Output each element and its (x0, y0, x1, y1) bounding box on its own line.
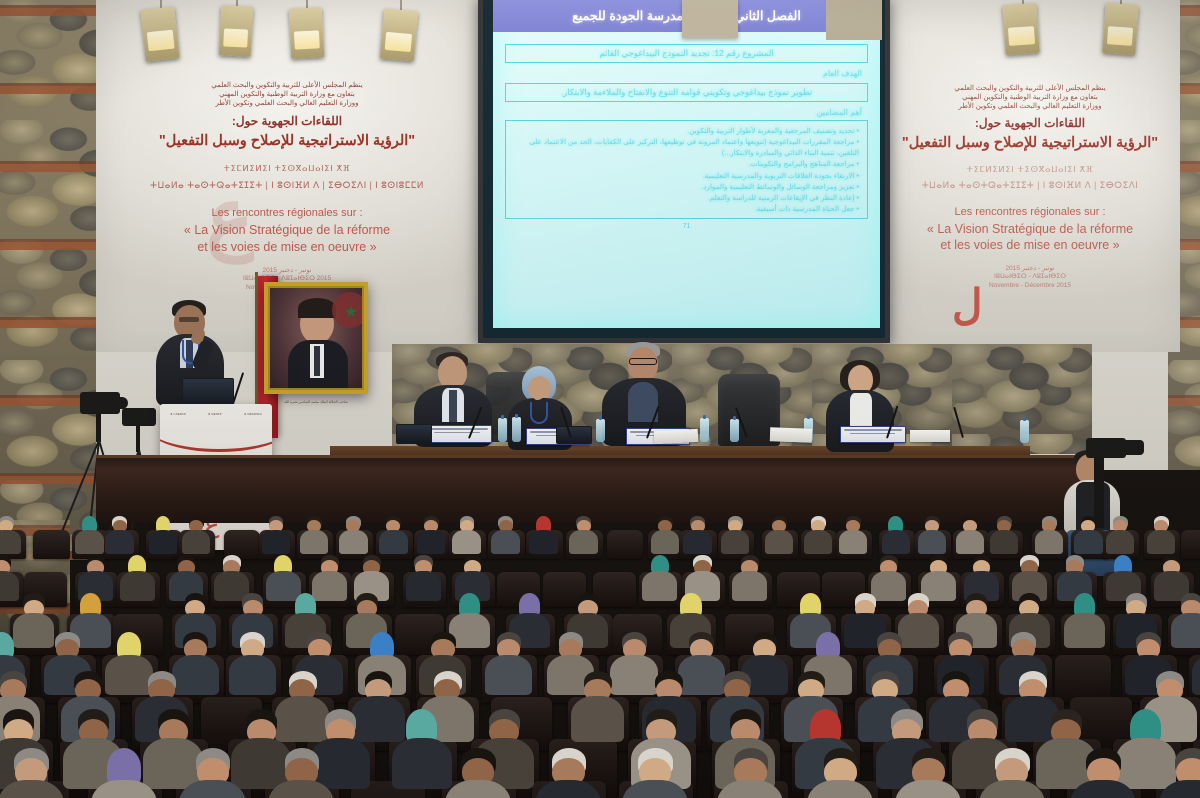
audience-member (78, 555, 113, 596)
banner-right-date-tif: ⵏⵓⵡⴰⵏⴱⵉⵔ - ⴷⵓⵊⴰⵏⴱⵉⵔ (890, 273, 1180, 281)
audience-member (807, 748, 873, 798)
slide-contents-heading: أهم المضامين (505, 108, 868, 117)
audience-torso (651, 530, 680, 554)
stage-lamp (289, 7, 325, 59)
audience-member (1035, 516, 1064, 549)
documents (770, 427, 812, 442)
banner-left-fr-3: et les voies de mise en oeuvre » (104, 240, 470, 256)
audience-member (300, 516, 329, 549)
podium-logos: ★ CSEFRS ★ MENFP ★ MESRSFC (170, 408, 262, 420)
stage-lamp (219, 5, 254, 57)
water-bottle (498, 418, 507, 442)
audience-torso (571, 696, 625, 741)
banner-right-fr-1: Les rencontres régionales sur : (890, 206, 1180, 220)
banner-left-fr-2: « La Vision Stratégique de la réforme (104, 223, 470, 239)
audience-member (339, 516, 368, 549)
water-bottle (700, 418, 709, 442)
audience-torso (569, 530, 598, 554)
slide-content-item: تعزيز ومراجعة الوسائل والوسائط التعليمية… (514, 181, 859, 192)
audience-torso (445, 780, 511, 798)
banner-left-title: "الرؤية الاستراتيجية للإصلاح وسبل التفعي… (104, 132, 470, 150)
portrait-caption: صاحب الجلالة الملك محمد السادس نصره الله (264, 400, 368, 404)
slide-objective-text: تطوير نموذج بيداغوجي وتكويني قوامه التنو… (505, 83, 868, 102)
audience-torso (717, 780, 783, 798)
audience-member (354, 555, 389, 596)
stage-lamp (140, 6, 179, 61)
audience-member (839, 516, 868, 549)
banner-left-tifinagh-1: ⵜⵉⵎⵍⵉⵍⵉⵏ ⵜⵉⵙⴳⴰⵡⴰⵏⵉⵏ ⵅⴼ (104, 163, 470, 174)
slide-content-item: الارتقاء بجودة العلاقات التربوية والمدرس… (514, 170, 859, 181)
audience-member (406, 555, 441, 596)
audience-member (571, 671, 625, 734)
royal-portrait: ★ صاحب الجلالة الملك محمد السادس نصره ال… (264, 282, 368, 394)
audience-member (1057, 555, 1092, 596)
audience-torso (839, 530, 868, 554)
slide-objective-heading: الهدف العام (505, 69, 868, 78)
banner-right-tifinagh-2: ⵜⵡⴰⵍⴰ ⵜⴰⵙⵜⵕⴰⵜⵉⵊⵉⵜ | ⵏ ⵓⵙⵏⴼⵍ ⴷ | ⵉⴱⵔⵉⴷⵏ (890, 180, 1180, 191)
audience-member (921, 555, 956, 596)
audience-member (1106, 555, 1141, 596)
audience-torso (105, 530, 134, 554)
audience-torso (1070, 780, 1136, 798)
audience-member (964, 555, 999, 596)
audience-torso (918, 530, 947, 554)
audience-member (1154, 555, 1189, 596)
stage-lamp (1102, 3, 1138, 55)
audience-member (455, 555, 490, 596)
audience-torso (452, 530, 481, 554)
banner-right-date-fr: Novembre - Décembre 2015 (890, 282, 1180, 290)
audience-torso (0, 780, 64, 798)
audience-torso (268, 780, 334, 798)
audience-torso (491, 530, 520, 554)
audience-member (149, 516, 178, 549)
audience-member (918, 516, 947, 549)
slide-contents-list: تحديد وتصنيف المرجعية والمعربة لأطوار ال… (505, 120, 868, 219)
water-bottle (596, 419, 605, 442)
documents (654, 429, 699, 444)
audience-member (717, 748, 783, 798)
ceiling-panel (826, 0, 882, 40)
audience-torso (179, 780, 245, 798)
audience-torso (1064, 613, 1105, 648)
banner-right-date-ar: 2015 نونبر - دجنبر (890, 265, 1180, 273)
panel-laptop (556, 426, 592, 444)
slide-number: 71 (505, 223, 868, 230)
banner-left-org-3: ووزارة التعليم العالي والبحث العلمي وتكو… (104, 100, 470, 109)
banner-left-date-ar: 2015 نونبر - دجنبر (104, 267, 470, 275)
audience-member (91, 748, 157, 798)
audience-torso (91, 780, 157, 798)
banner-left-heading: اللقاءات الجهوية حول: (104, 114, 470, 129)
audience-torso (683, 530, 712, 554)
audience-torso (229, 655, 276, 695)
audience-member (179, 748, 245, 798)
audience-torso (120, 571, 155, 600)
banner-right-fr-3: et les voies de mise en oeuvre » (890, 238, 1180, 254)
banner-right-tifinagh-1: ⵜⵉⵎⵍⵉⵍⵉⵏ ⵜⵉⵙⴳⴰⵡⴰⵏⵉⵏ ⵅⴼ (890, 164, 1180, 175)
audience-member (642, 555, 677, 596)
banner-left-tifinagh-2: ⵜⵡⴰⵍⴰ ⵜⴰⵙⵜⵕⴰⵜⵉⵊⵉⵜ | ⵏ ⵓⵙⵏⴼⵍ ⴷ | ⵉⴱⵔⵉⴷⵏ |… (104, 180, 470, 191)
ceiling-panel (682, 0, 738, 38)
water-bottle (730, 419, 739, 442)
audience-member (379, 516, 408, 549)
eyeglasses-icon (629, 358, 657, 365)
audience-member (651, 516, 680, 549)
projection-screen: الفصل الثاني: من أجل مدرسة الجودة للجميع… (478, 0, 890, 343)
nameplate (840, 426, 906, 443)
audience-member (1147, 516, 1176, 549)
audience-member (169, 555, 204, 596)
audience-member (804, 516, 833, 549)
audience-member (417, 516, 446, 549)
slide-content-item: مراجعة المناهج والبرامج والتكوينات. (514, 158, 859, 169)
audience-member (445, 748, 511, 798)
audience-member (0, 748, 64, 798)
audience-torso (379, 530, 408, 554)
audience-member (452, 516, 481, 549)
audience-member (685, 555, 720, 596)
royal-portrait-image: ★ (268, 286, 364, 390)
audience-member (683, 516, 712, 549)
audience-member (229, 632, 276, 688)
banner-right-org-1: ينظم المجلس الأعلى للتربية والتكوين والب… (890, 85, 1180, 94)
audience-member (622, 748, 688, 798)
audience-torso (1035, 530, 1064, 554)
audience-member (0, 555, 19, 596)
audience-torso (765, 530, 794, 554)
audience-member (214, 555, 249, 596)
audience-torso (339, 530, 368, 554)
audience-torso (392, 738, 452, 789)
audience-member (765, 516, 794, 549)
audience-member (1106, 516, 1135, 549)
audience-member (105, 516, 134, 549)
audience-torso (807, 780, 873, 798)
audience-torso (882, 530, 911, 554)
audience-torso (721, 530, 750, 554)
banner-left-fr-1: Les rencontres régionales sur : (104, 207, 470, 221)
audience-member (182, 516, 211, 549)
podium-swoosh (160, 418, 272, 452)
banner-left-org-2: بتعاون مع وزارة التربية الوطنية والتكوين… (104, 91, 470, 100)
nameplate (424, 425, 492, 443)
audience-torso (182, 530, 211, 554)
audience-member (990, 516, 1019, 549)
audience-member (535, 748, 601, 798)
audience-torso (732, 571, 767, 600)
audience-torso (1159, 780, 1200, 798)
audience-torso (406, 571, 441, 600)
audience-member (882, 516, 911, 549)
audience-member (0, 516, 21, 549)
audience-member (485, 632, 532, 688)
audience-torso (262, 530, 291, 554)
stage-lamp (1002, 3, 1039, 55)
audience-torso (956, 530, 985, 554)
banner-right-heading: اللقاءات الجهوية حول: (890, 116, 1180, 131)
audience-member (268, 748, 334, 798)
audience-torso (1106, 530, 1135, 554)
audience-torso (529, 530, 558, 554)
audience-member (120, 555, 155, 596)
documents (910, 430, 950, 442)
audience-torso (622, 780, 688, 798)
audience-seat (1055, 655, 1110, 702)
audience-seat (607, 530, 644, 558)
audience-torso (979, 780, 1045, 798)
audience-torso (804, 530, 833, 554)
audience-torso (417, 530, 446, 554)
audience-member (569, 516, 598, 549)
audience-member (979, 748, 1045, 798)
audience-member (1074, 516, 1103, 549)
audience-torso (485, 655, 532, 695)
audience-member (956, 516, 985, 549)
panel-laptop (396, 424, 432, 444)
audience-member (75, 516, 104, 549)
audience-member (392, 709, 452, 779)
stage-lamp (380, 9, 418, 62)
audience-member (529, 516, 558, 549)
audience-member (1070, 748, 1136, 798)
conference-hall-photo: ع ينظم المجلس الأعلى للتربية والتكوين وا… (0, 0, 1200, 798)
audience-member (721, 516, 750, 549)
banner-right-org-3: ووزارة التعليم العالي والبحث العلمي وتكو… (890, 103, 1180, 112)
banner-right-title: "الرؤية الاستراتيجية للإصلاح وسبل التفعي… (890, 134, 1180, 152)
water-bottle (512, 417, 521, 442)
audience-torso (149, 530, 178, 554)
audience-torso (75, 530, 104, 554)
audience-member (895, 748, 961, 798)
audience-torso (0, 530, 21, 554)
audience-member (1159, 748, 1200, 798)
audience-member (871, 555, 906, 596)
audience-member (491, 516, 520, 549)
audience-seat (33, 530, 70, 558)
slide-content-item: مراجعة المقررات البيداغوجية (تنويعها واع… (514, 136, 859, 158)
banner-left-org-1: ينظم المجلس الأعلى للتربية والتكوين والب… (104, 82, 470, 91)
audience-torso (1074, 530, 1103, 554)
audience-member (262, 516, 291, 549)
audience-torso (990, 530, 1019, 554)
slide-content-item: إعادة النظر في الإيقاعات الزمنية للدراسة… (514, 192, 859, 203)
audience (0, 510, 1200, 798)
audience-member (266, 555, 301, 596)
audience-torso (535, 780, 601, 798)
water-bottle (1020, 420, 1029, 443)
video-camera-icon (122, 408, 156, 426)
audience-member (732, 555, 767, 596)
audience-member (1064, 593, 1105, 641)
banner-right-fr-2: « La Vision Stratégique de la réforme (890, 222, 1180, 238)
audience-torso (1147, 530, 1176, 554)
audience-member (1012, 555, 1047, 596)
audience-torso (300, 530, 329, 554)
slide-project-label: المشروع رقم 12: تجديد النموذج البيداغوجي… (505, 44, 868, 63)
banner-right-org-2: بتعاون مع وزارة التربية الوطنية والتكوين… (890, 94, 1180, 103)
slide-content-item: تحديد وتصنيف المرجعية والمعربة لأطوار ال… (514, 125, 859, 136)
audience-torso (895, 780, 961, 798)
lanyard (530, 402, 548, 424)
slide-content-item: جعل الحياة المدرسية ذات أسبقية. (514, 203, 859, 214)
presentation-slide: الفصل الثاني: من أجل مدرسة الجودة للجميع… (493, 0, 880, 328)
audience-member (312, 555, 347, 596)
